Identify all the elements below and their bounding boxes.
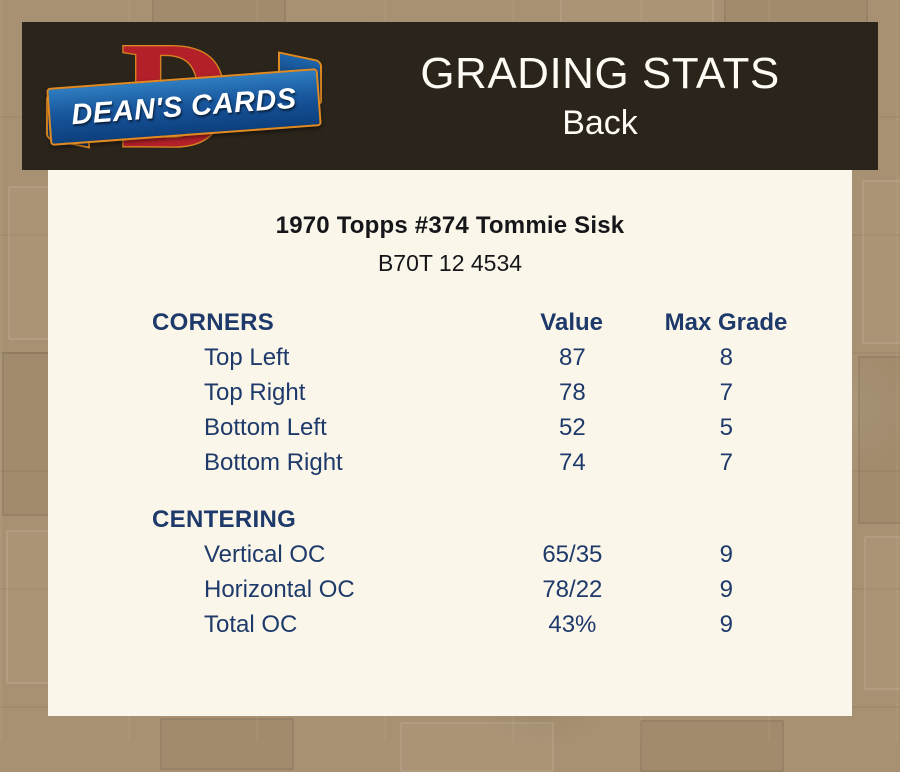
row-value: 78/22 bbox=[500, 576, 644, 604]
grading-stats-panel: 1970 Topps #374 Tommie Sisk B70T 12 4534… bbox=[48, 170, 852, 716]
row-label: Bottom Left bbox=[152, 414, 500, 442]
background-card-ghost bbox=[864, 536, 900, 690]
table-header-row: CORNERS Value Max Grade bbox=[152, 309, 808, 344]
logo-wordmark: DEAN'S CARDS bbox=[48, 70, 319, 143]
table-row: Total OC 43% 9 bbox=[152, 611, 808, 646]
row-label: Vertical OC bbox=[152, 541, 500, 569]
row-label: Top Left bbox=[152, 344, 500, 372]
table-row: Top Right 78 7 bbox=[152, 379, 808, 414]
row-max-grade: 7 bbox=[645, 449, 809, 477]
row-value: 52 bbox=[500, 414, 644, 442]
row-max-grade: 9 bbox=[645, 611, 809, 639]
card-title: 1970 Topps #374 Tommie Sisk bbox=[48, 212, 852, 240]
row-label: Bottom Right bbox=[152, 449, 500, 477]
row-label: Top Right bbox=[152, 379, 500, 407]
table-row: Bottom Right 74 7 bbox=[152, 449, 808, 484]
card-code: B70T 12 4534 bbox=[48, 250, 852, 277]
background-card-ghost bbox=[400, 722, 554, 772]
background-card-ghost bbox=[640, 720, 784, 772]
table-row: Top Left 87 8 bbox=[152, 344, 808, 379]
row-max-grade: 9 bbox=[645, 576, 809, 604]
background-card-ghost bbox=[858, 356, 900, 524]
deans-cards-logo[interactable]: D DEAN'S CARDS bbox=[46, 26, 320, 166]
row-max-grade: 5 bbox=[645, 414, 809, 442]
row-label: Horizontal OC bbox=[152, 576, 500, 604]
table-row: Horizontal OC 78/22 9 bbox=[152, 576, 808, 611]
row-value: 87 bbox=[500, 344, 644, 372]
row-value: 78 bbox=[500, 379, 644, 407]
header-title-group: GRADING STATS Back bbox=[322, 22, 878, 170]
table-row: Bottom Left 52 5 bbox=[152, 414, 808, 449]
column-header-max-grade: Max Grade bbox=[644, 309, 808, 337]
row-max-grade: 8 bbox=[645, 344, 809, 372]
section-heading-corners: CORNERS bbox=[152, 309, 499, 337]
page-title: GRADING STATS bbox=[420, 48, 779, 100]
section-heading-centering: CENTERING bbox=[152, 506, 499, 534]
logo-ribbon: DEAN'S CARDS bbox=[46, 68, 322, 146]
header-bar: D DEAN'S CARDS GRADING STATS Back bbox=[22, 22, 878, 170]
page-subtitle: Back bbox=[562, 102, 638, 144]
stats-section-corners: CORNERS Value Max Grade Top Left 87 8 To… bbox=[48, 309, 852, 484]
stats-section-centering: CENTERING Vertical OC 65/35 9 Horizontal… bbox=[48, 506, 852, 646]
table-row: Vertical OC 65/35 9 bbox=[152, 541, 808, 576]
row-value: 74 bbox=[500, 449, 644, 477]
background-card-ghost bbox=[160, 718, 294, 770]
row-max-grade: 7 bbox=[645, 379, 809, 407]
row-max-grade: 9 bbox=[645, 541, 809, 569]
column-header-value: Value bbox=[499, 309, 644, 337]
background-card-ghost bbox=[862, 180, 900, 344]
row-value: 43% bbox=[500, 611, 644, 639]
section-heading-row: CENTERING bbox=[152, 506, 808, 541]
row-value: 65/35 bbox=[500, 541, 644, 569]
row-label: Total OC bbox=[152, 611, 500, 639]
